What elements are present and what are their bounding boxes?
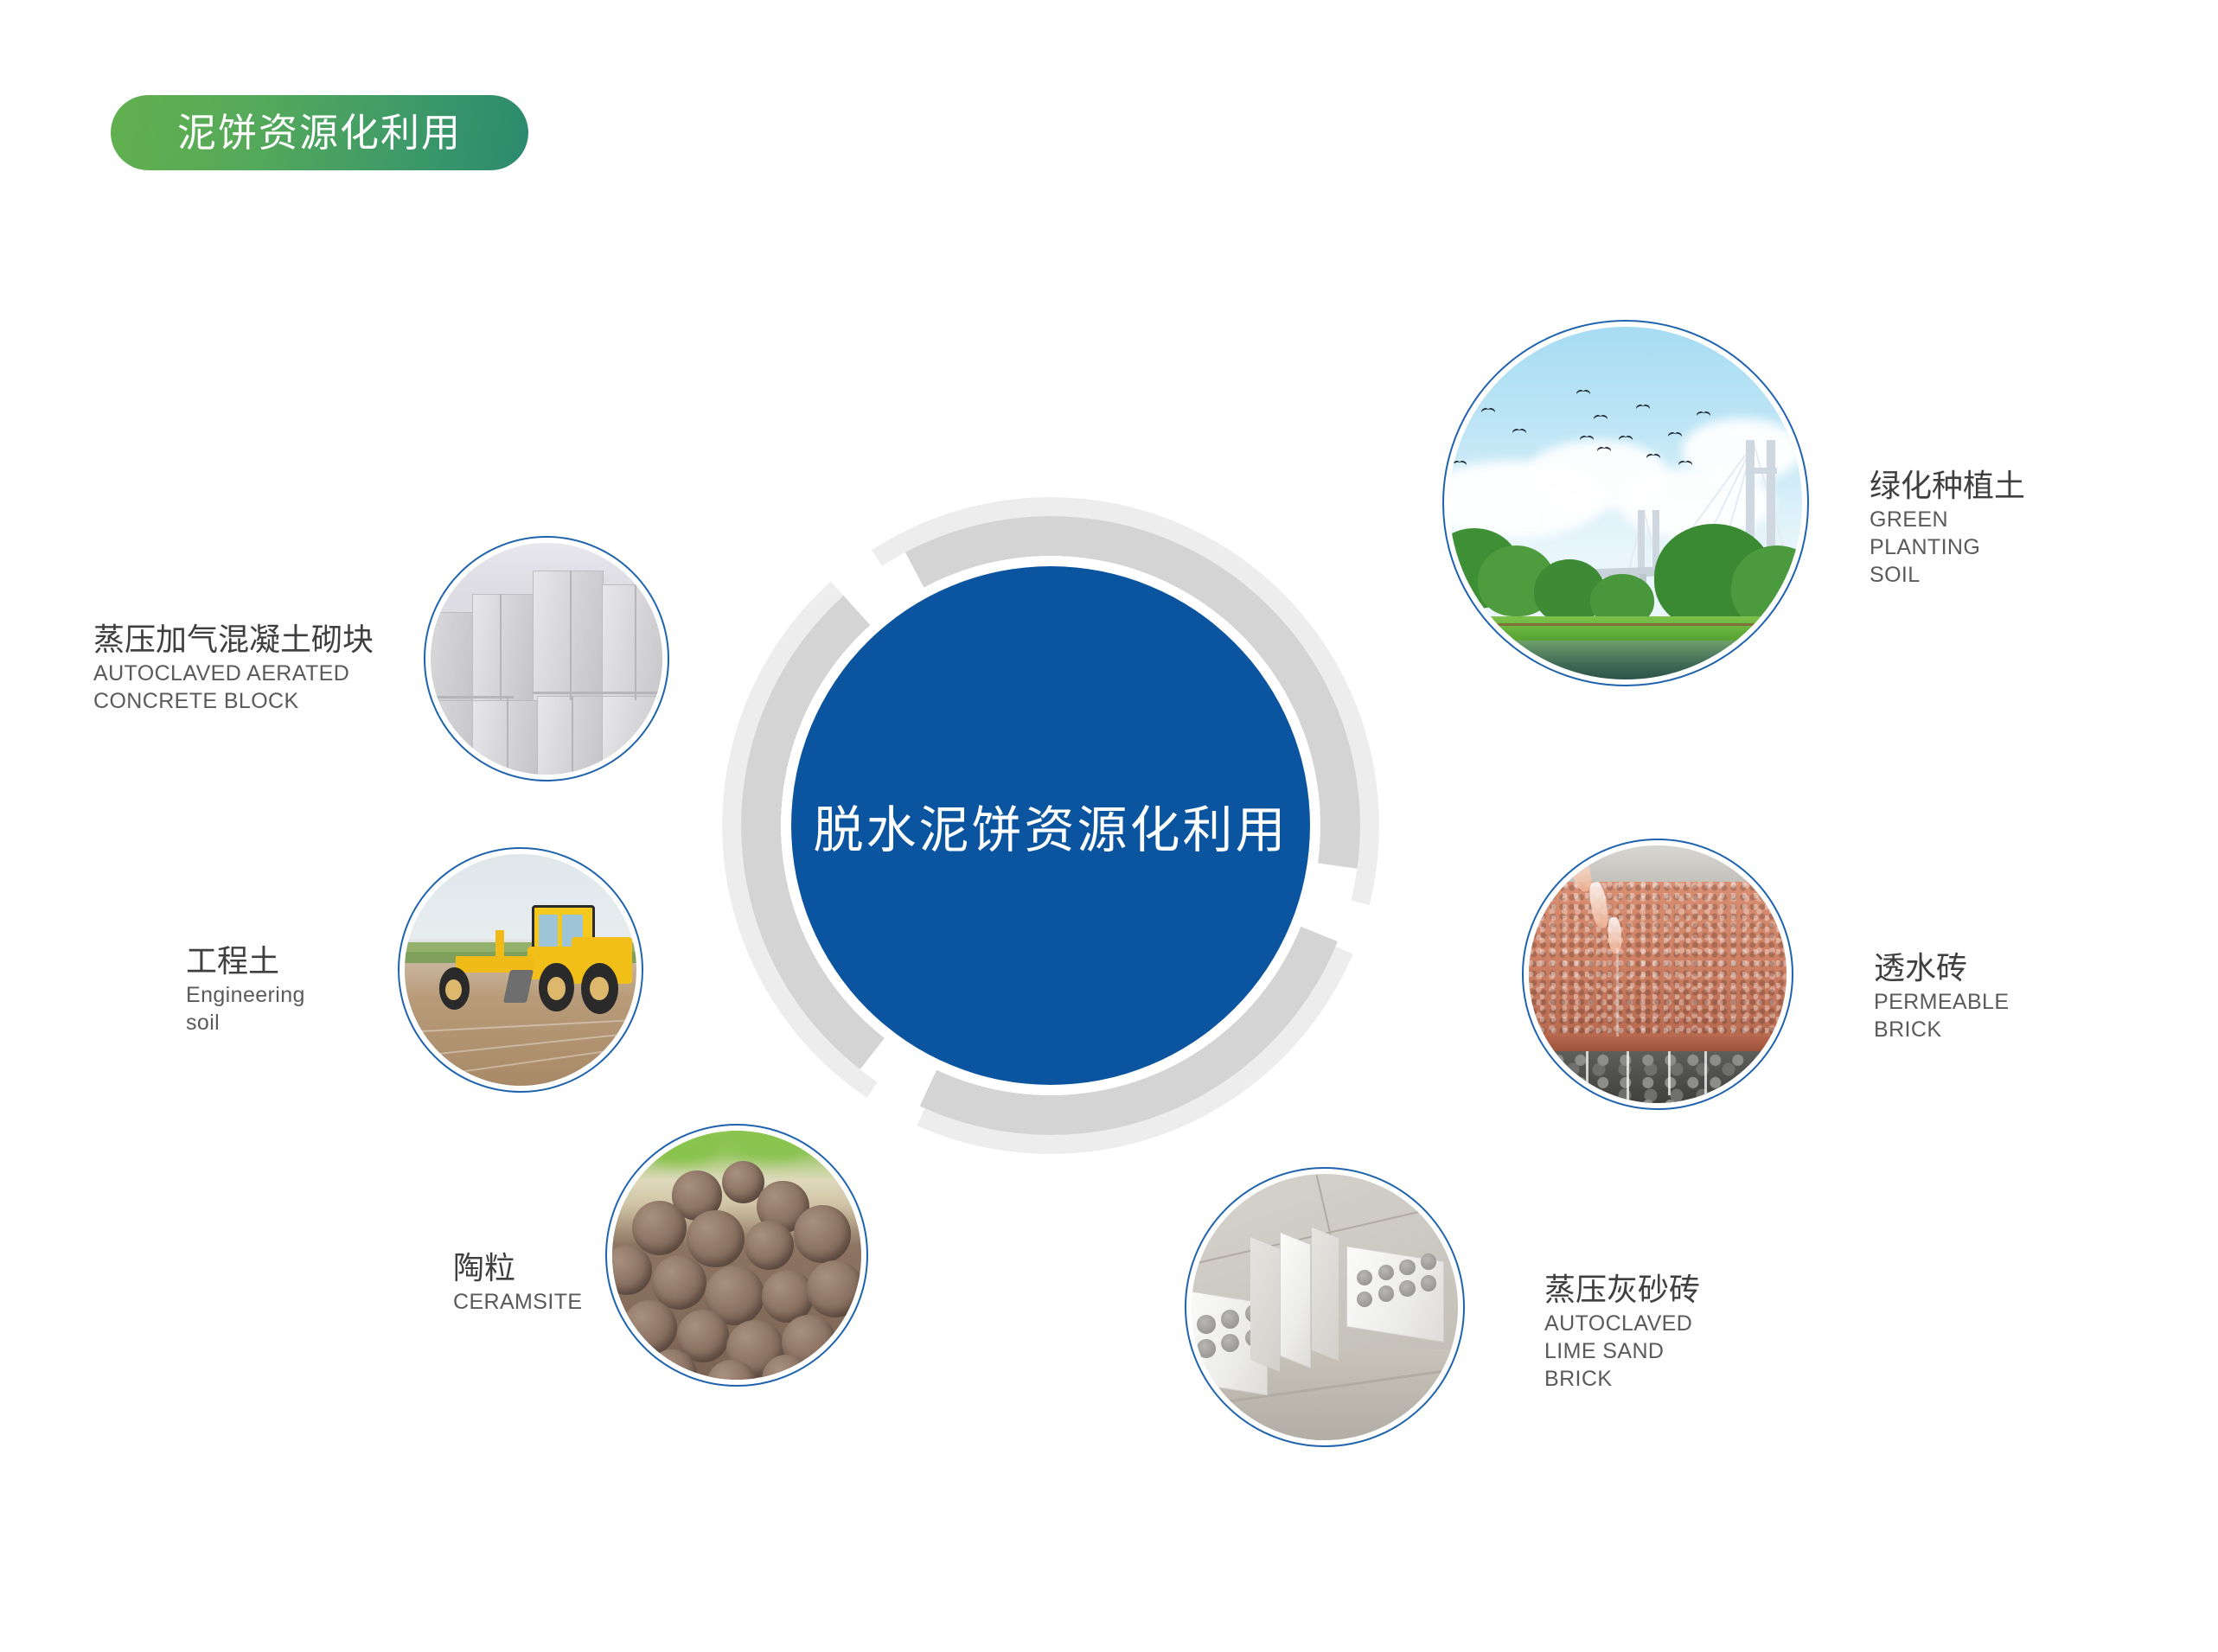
center-hub: 脱水泥饼资源化利用 — [722, 497, 1379, 1154]
permeable-brick-illustration — [1529, 845, 1787, 1103]
motor-grader-illustration — [405, 854, 636, 1086]
label-en-line2: CONCRETE BLOCK — [93, 687, 374, 715]
label-en-line1: AUTOCLAVED AERATED — [93, 660, 374, 687]
aac-blocks-illustration — [431, 543, 662, 775]
photo-stacked-aerated-concrete-blocks[interactable] — [424, 536, 669, 781]
label-cn: 陶粒 — [453, 1249, 582, 1288]
label-cn: 工程土 — [186, 942, 305, 981]
label-en-line1: PERMEABLE BRICK — [1874, 988, 2009, 1043]
label-autoclaved-aerated-concrete-block: 蒸压加气混凝土砌块 AUTOCLAVED AERATED CONCRETE BL… — [93, 621, 374, 715]
label-autoclaved-lime-sand-brick: 蒸压灰砂砖 AUTOCLAVED LIME SAND BRICK — [1544, 1271, 1700, 1393]
label-en-line1: AUTOCLAVED LIME SAND BRICK — [1544, 1310, 1700, 1393]
label-en-line1: GREEN PLANTING SOIL — [1870, 506, 2025, 589]
riverside-park-illustration — [1449, 327, 1802, 679]
section-title-text: 泥饼资源化利用 — [177, 113, 462, 152]
center-circle: 脱水泥饼资源化利用 — [791, 566, 1310, 1085]
label-cn: 透水砖 — [1874, 949, 2009, 988]
label-cn: 蒸压加气混凝土砌块 — [93, 621, 374, 660]
photo-brown-ceramsite-pellets[interactable] — [605, 1124, 868, 1387]
label-green-planting-soil: 绿化种植土 GREEN PLANTING SOIL — [1870, 467, 2025, 589]
center-title: 脱水泥饼资源化利用 — [813, 789, 1288, 862]
section-title-badge: 泥饼资源化利用 — [111, 95, 528, 170]
label-cn: 蒸压灰砂砖 — [1544, 1271, 1700, 1310]
label-cn: 绿化种植土 — [1870, 467, 2025, 506]
label-ceramsite: 陶粒 CERAMSITE — [453, 1249, 582, 1316]
photo-riverside-park-with-cable-bridge[interactable] — [1442, 320, 1809, 686]
lime-sand-bricks-illustration — [1192, 1174, 1458, 1440]
label-en-line1: CERAMSITE — [453, 1288, 582, 1316]
label-en-line1: Engineering soil — [186, 981, 305, 1036]
label-permeable-brick: 透水砖 PERMEABLE BRICK — [1874, 949, 2009, 1043]
photo-motor-grader-on-earthworks[interactable] — [398, 847, 643, 1093]
photo-white-perforated-lime-sand-bricks[interactable] — [1185, 1167, 1465, 1447]
ceramsite-pellets-illustration — [612, 1131, 861, 1380]
label-engineering-soil: 工程土 Engineering soil — [186, 942, 305, 1036]
photo-water-draining-through-red-permeable-paver[interactable] — [1522, 839, 1793, 1110]
